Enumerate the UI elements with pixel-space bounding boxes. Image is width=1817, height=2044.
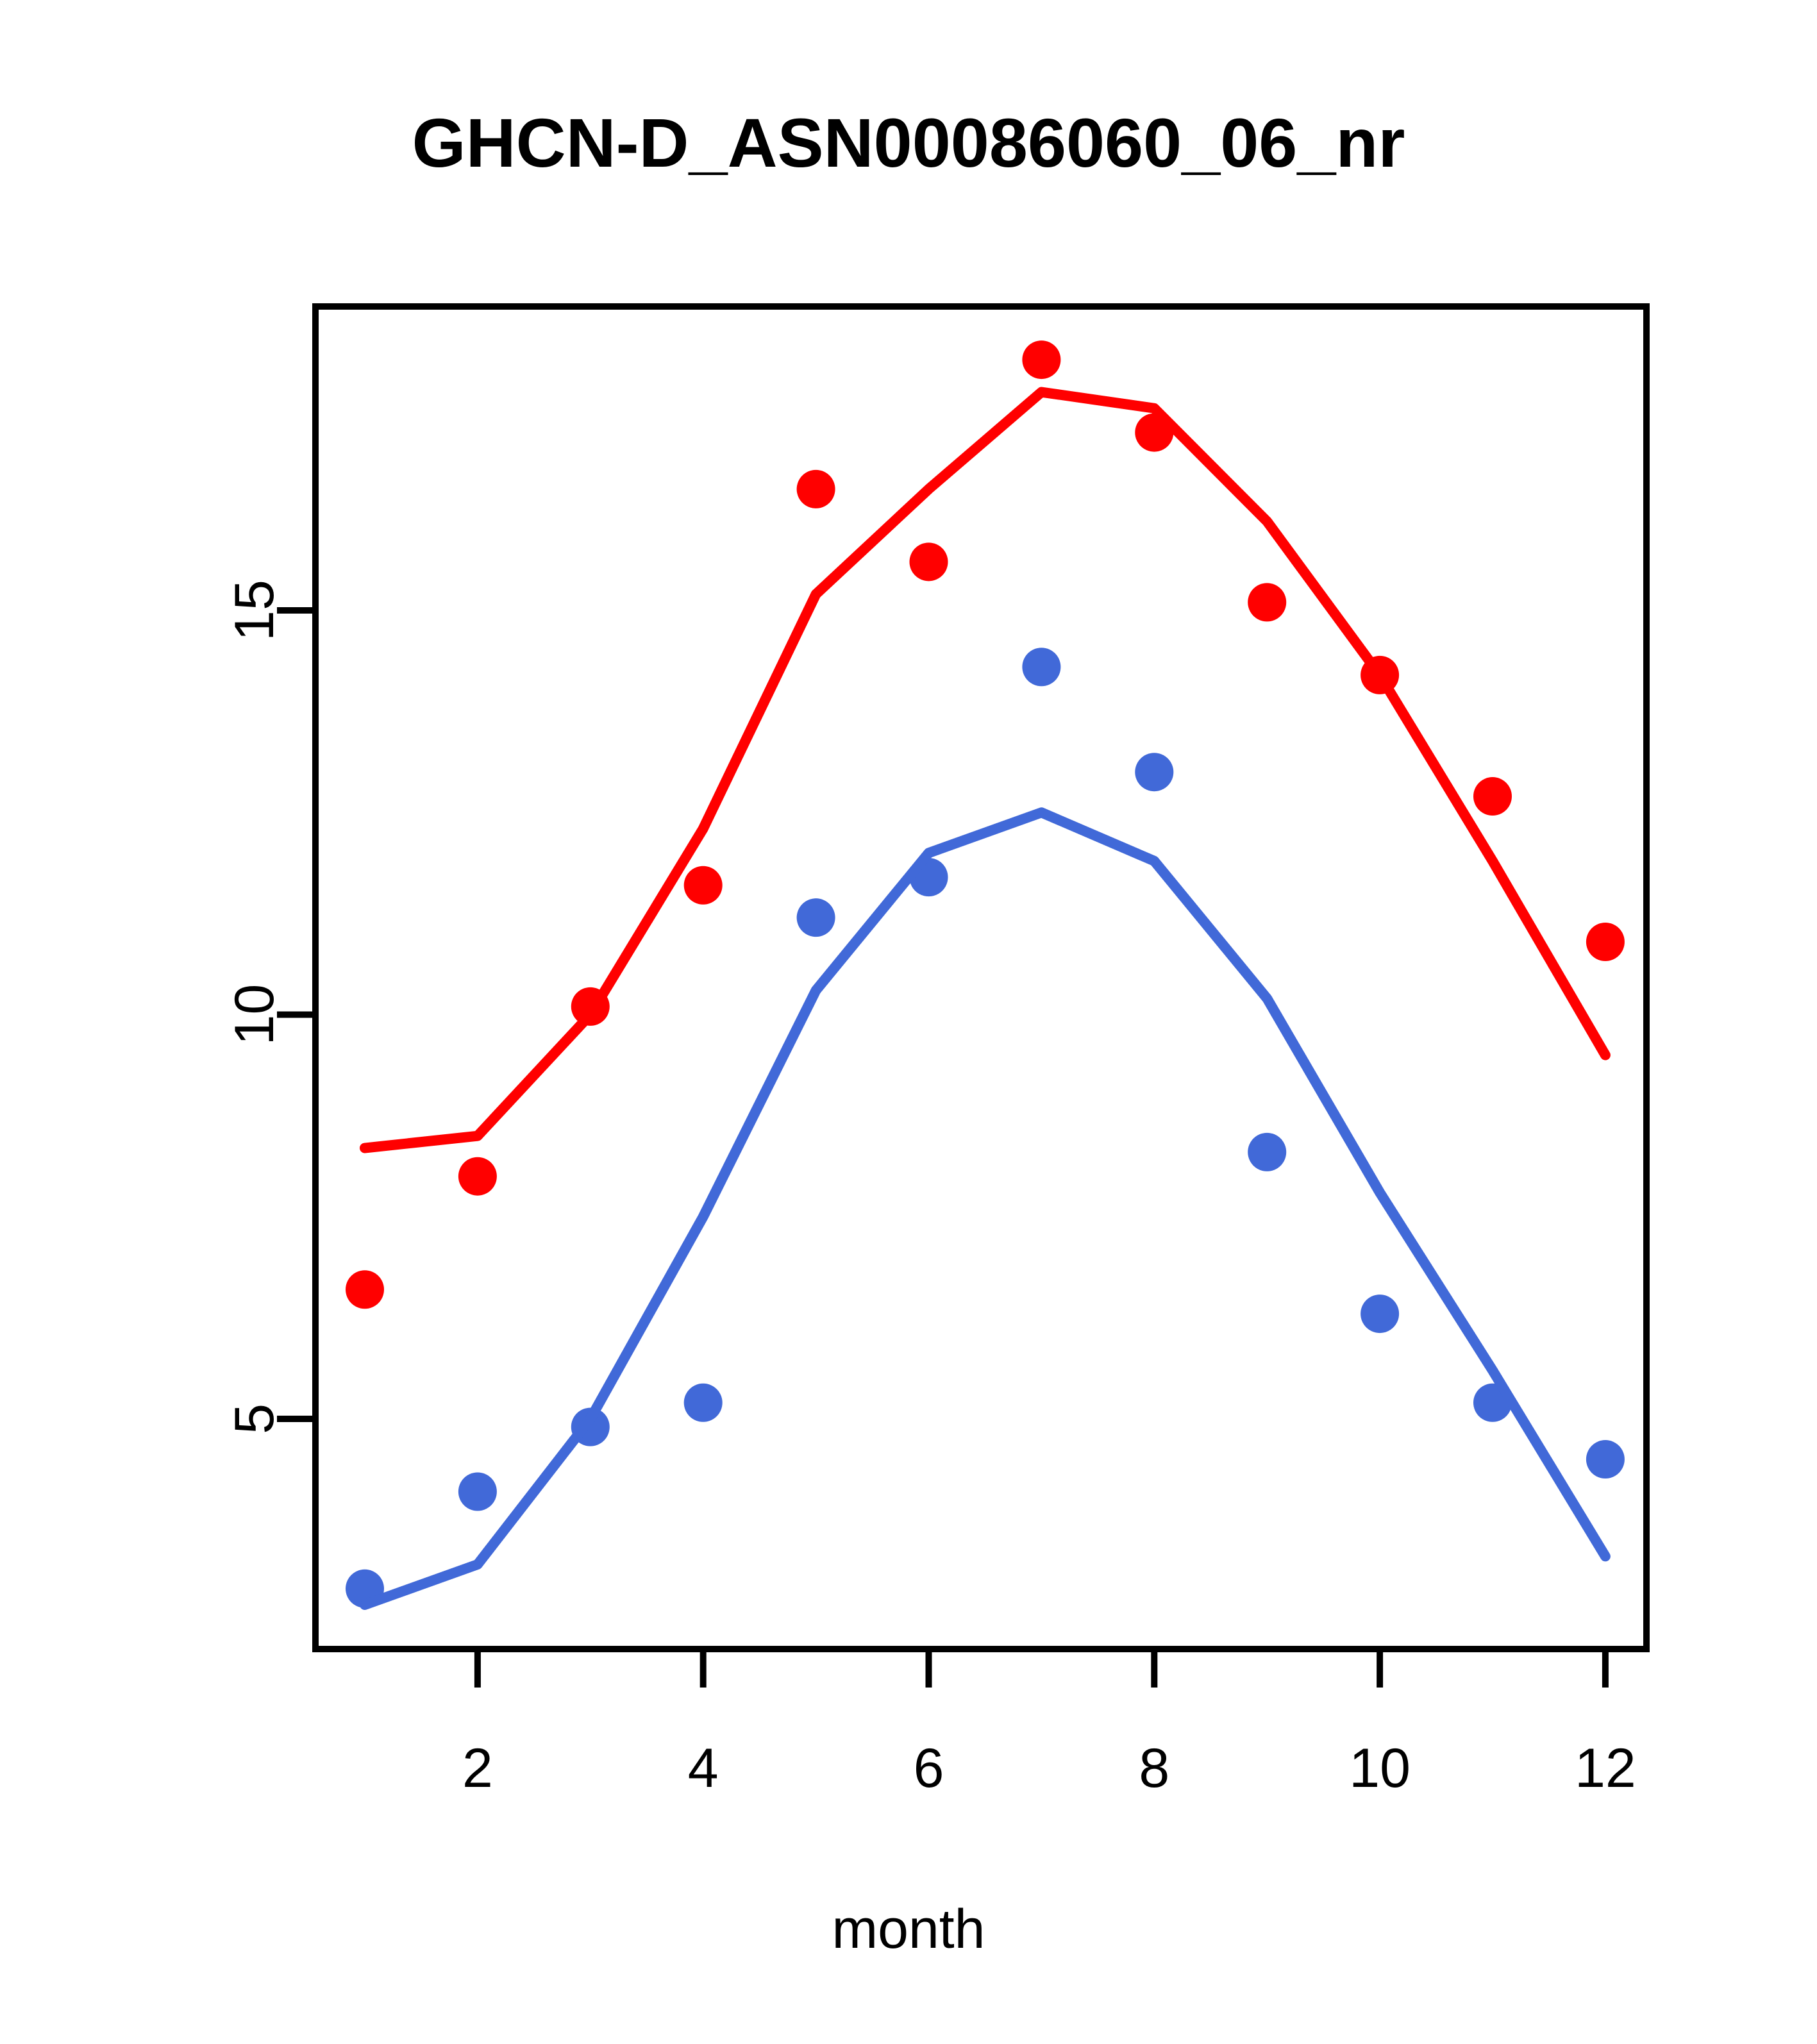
data-point [346, 1270, 384, 1309]
y-tick-label-15: 15 [224, 580, 285, 641]
series-blue-points [346, 648, 1625, 1608]
data-point [1135, 753, 1173, 791]
data-point [1361, 1294, 1399, 1333]
plot-box [315, 306, 1646, 1649]
data-point [910, 542, 948, 581]
series-blue-line [365, 812, 1605, 1605]
x-tick-label-4: 4 [688, 1738, 719, 1799]
y-tick-label-10: 10 [224, 984, 285, 1046]
data-point [1586, 1440, 1625, 1479]
data-point [797, 470, 835, 508]
x-tick-label-10: 10 [1349, 1738, 1411, 1799]
data-point [458, 1157, 497, 1196]
data-point [797, 898, 835, 937]
data-point [684, 1384, 723, 1422]
y-tick-label-5: 5 [224, 1403, 285, 1434]
x-axis-label: month [0, 1898, 1817, 1961]
data-point [1248, 1133, 1286, 1171]
series-red-line [365, 392, 1605, 1148]
x-tick-label-6: 6 [914, 1738, 944, 1799]
data-point [1248, 583, 1286, 621]
series-red-points [346, 340, 1625, 1309]
axis-ticks [277, 610, 1605, 1688]
plot-frame [315, 306, 1646, 1649]
series-layer [346, 340, 1625, 1608]
data-point [1022, 340, 1060, 379]
chart-figure: GHCN-D_ASN00086060_06_nr 5101524681012 m… [0, 0, 1817, 2044]
plot-canvas: 5101524681012 [0, 0, 1817, 2044]
x-tick-label-12: 12 [1575, 1738, 1636, 1799]
x-tick-label-8: 8 [1139, 1738, 1169, 1799]
data-point [1586, 923, 1625, 961]
data-point [684, 866, 723, 905]
x-tick-label-2: 2 [462, 1738, 493, 1799]
data-point [458, 1472, 497, 1511]
data-point [1473, 777, 1512, 816]
axis-tick-labels: 5101524681012 [224, 580, 1636, 1799]
data-point [1022, 648, 1060, 686]
